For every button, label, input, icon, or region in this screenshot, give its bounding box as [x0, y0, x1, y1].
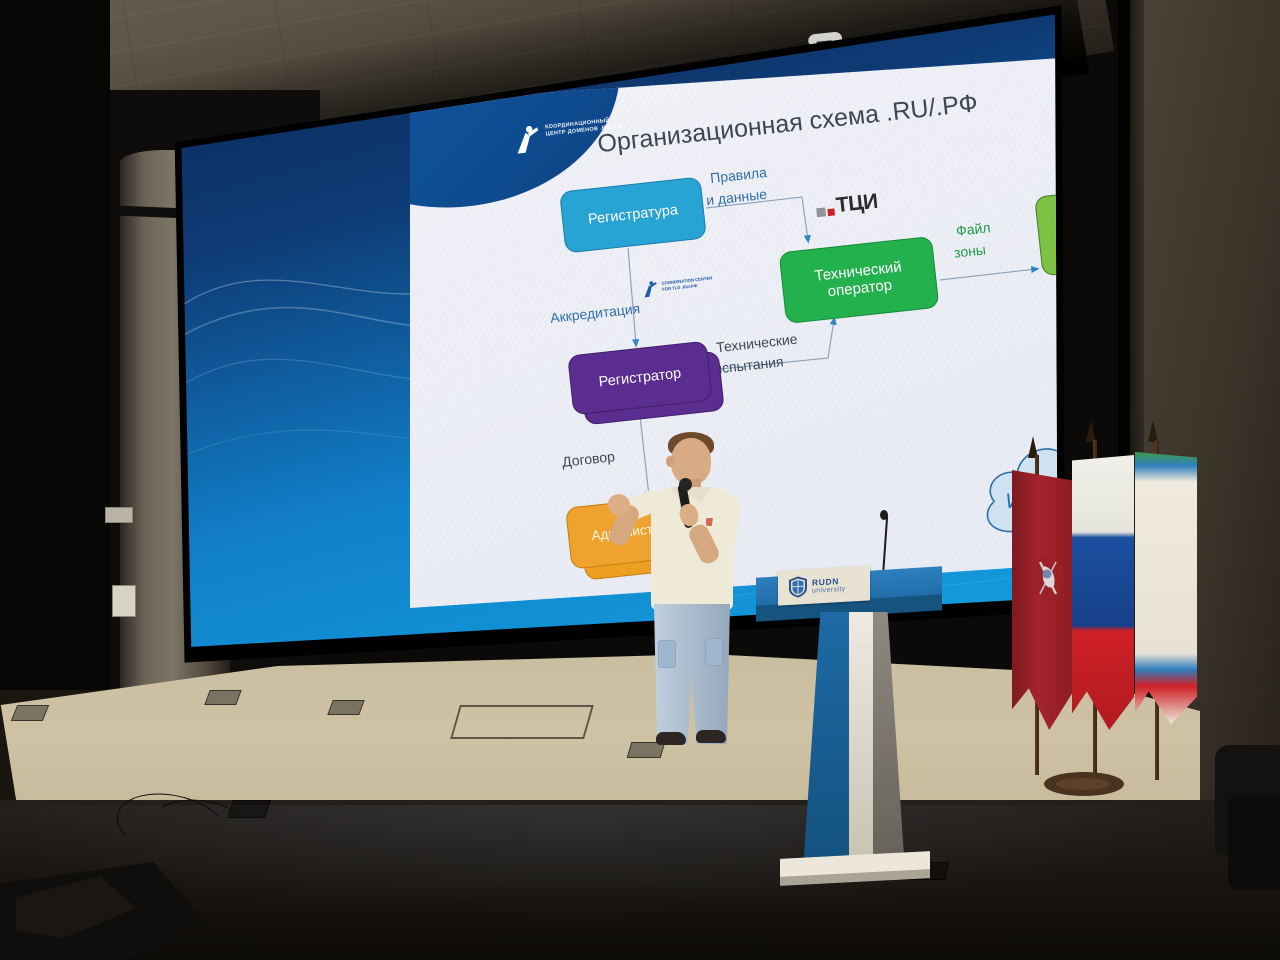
equipment-bag-secondary — [1228, 795, 1280, 890]
lectern-nameplate-line2: university — [812, 586, 846, 595]
flag-stand-inner — [1056, 778, 1110, 790]
speaker-person — [608, 432, 768, 788]
lectern-body — [794, 612, 914, 862]
tci-logo-text: ТЦИ — [835, 193, 878, 215]
handheld-microphone-head — [679, 478, 692, 491]
flagpole-tip-russia — [1086, 420, 1096, 442]
speaker-shoe-left — [656, 732, 686, 745]
coordination-center-inline-logo-text: COORDINATION CENTER FOR TLD .RU/.РФ — [661, 275, 718, 292]
edge-label-zone-file-line1: Файл — [955, 218, 991, 240]
runner-icon-small — [639, 278, 661, 300]
russia-flag — [1072, 455, 1134, 730]
flow-box-tech-operator-label: Технический оператор — [808, 257, 911, 302]
tci-square-red-icon — [827, 208, 835, 216]
speaker-head — [671, 438, 711, 485]
lectern-mic-head — [880, 510, 888, 520]
rudn-flag — [1135, 452, 1197, 724]
tci-square-gray-icon — [816, 207, 826, 217]
wall-sign-exit — [105, 507, 133, 523]
lectern-body-right — [873, 612, 914, 862]
wall-notice-plate — [112, 585, 136, 617]
moscow-coat-of-arms-icon — [1026, 548, 1070, 608]
flagpole-tip-rudn — [1148, 420, 1158, 442]
stage-floor-hatch — [11, 705, 49, 721]
lectern-body-mid — [849, 612, 873, 862]
stage-floor-hatch — [327, 700, 364, 715]
rudn-shield-icon — [788, 575, 808, 599]
speaker-shoe-right — [696, 730, 726, 743]
speaker-jeans-shading — [654, 604, 730, 744]
speaker-ear — [666, 456, 674, 467]
stage-floor-hatch — [204, 690, 241, 705]
edge-label-zone-file-line2: зоны — [953, 240, 987, 262]
flow-box-registratura-label: Регистратура — [581, 201, 684, 229]
stage-floor-trap — [450, 705, 594, 739]
speaker-cargo-pocket-left — [658, 640, 676, 668]
moscow-flag — [1012, 470, 1072, 730]
speaker-cargo-pocket-right — [705, 638, 723, 666]
conference-photo-scene: КООРДИНАЦИОННЫЙ ЦЕНТР ДОМЕНОВ .RU/.РФ Ор… — [0, 0, 1280, 960]
lectern-nameplate: RUDN university — [778, 565, 870, 605]
flow-box-registrator-label: Регистратор — [592, 365, 688, 392]
lectern-body-left — [794, 612, 849, 862]
lectern: RUDN university — [756, 560, 946, 880]
